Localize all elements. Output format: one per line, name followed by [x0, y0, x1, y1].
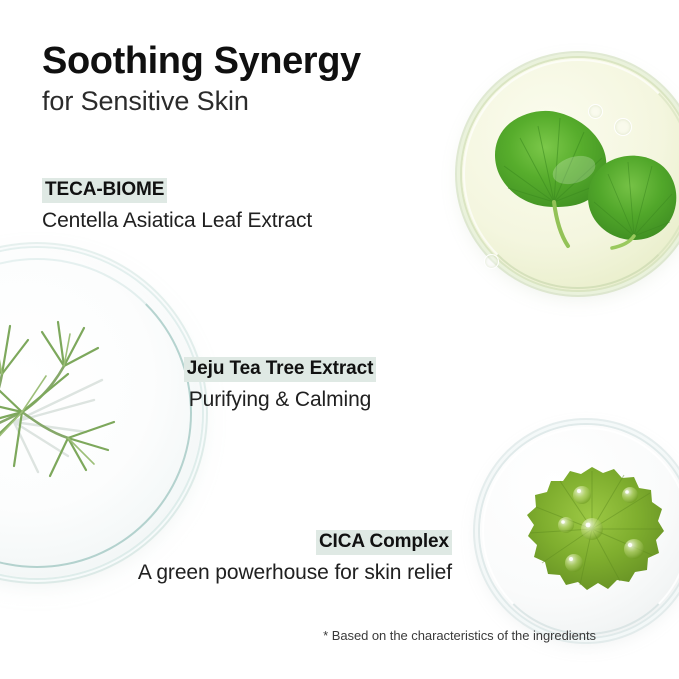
ingredient-title: CICA Complex [316, 530, 452, 555]
ingredient-block-jeju-tea-tree: Jeju Tea Tree Extract Purifying & Calmin… [0, 357, 560, 412]
ingredient-block-cica-complex: CICA Complex A green powerhouse for skin… [0, 530, 452, 585]
ingredient-title: Jeju Tea Tree Extract [184, 357, 377, 382]
footnote-text: * Based on the characteristics of the in… [0, 628, 596, 643]
ingredient-description: Purifying & Calming [0, 388, 560, 412]
ingredient-infographic: Soothing Synergy for Sensitive Skin TECA… [0, 0, 679, 679]
ingredient-title: TECA-BIOME [42, 178, 167, 203]
cica-leaf-droplets-dish-image [480, 425, 679, 637]
centella-leaf-large [490, 110, 618, 220]
page-subtitle: for Sensitive Skin [42, 86, 249, 117]
ingredient-block-teca-biome: TECA-BIOME Centella Asiatica Leaf Extrac… [42, 178, 312, 233]
ingredient-description: A green powerhouse for skin relief [0, 561, 452, 585]
page-title: Soothing Synergy [42, 40, 361, 83]
bubble-icon [588, 104, 603, 119]
ingredient-description: Centella Asiatica Leaf Extract [42, 209, 312, 233]
bubble-icon [614, 118, 632, 136]
centella-leaf-small [586, 154, 679, 246]
bubble-icon [484, 254, 499, 269]
cica-leaf [520, 463, 664, 599]
centella-leaves-dish-image [462, 58, 679, 290]
